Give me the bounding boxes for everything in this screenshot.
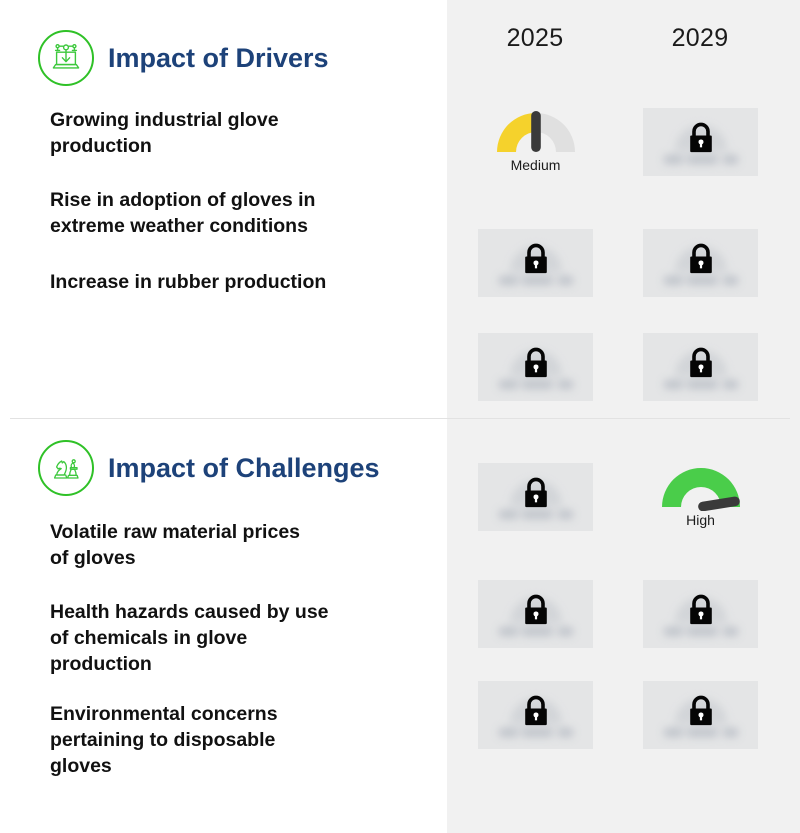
gauge-label-high: High — [658, 512, 744, 528]
driver-label-1: Growing industrial glove production — [50, 108, 435, 160]
lock-icon — [686, 593, 716, 632]
gauge-label-medium: Medium — [493, 157, 579, 173]
driver-label-3: Increase in rubber production — [50, 270, 435, 296]
column-header-2029: 2029 — [620, 24, 780, 53]
laptop-network-download-icon — [38, 30, 94, 86]
impact-cell-challenges-1-2029[interactable]: High — [643, 461, 758, 529]
impact-cell-challenges-1-2025[interactable] — [478, 463, 593, 531]
section-title-challenges: Impact of Challenges — [108, 453, 380, 484]
impact-cell-challenges-3-2029[interactable] — [643, 681, 758, 749]
lock-icon — [521, 694, 551, 733]
lock-icon — [686, 242, 716, 281]
lock-icon — [686, 121, 716, 160]
section-title-drivers: Impact of Drivers — [108, 43, 329, 74]
section-divider — [10, 418, 790, 419]
section-header-drivers: Impact of Drivers — [38, 30, 329, 86]
impact-cell-drivers-2-2025[interactable] — [478, 229, 593, 297]
section-header-challenges: Impact of Challenges — [38, 440, 380, 496]
impact-cell-drivers-1-2029[interactable] — [643, 108, 758, 176]
lock-icon — [686, 346, 716, 385]
infographic-root: 2025 2029 Impact of Drivers — [0, 0, 800, 833]
impact-cell-drivers-3-2025[interactable] — [478, 333, 593, 401]
challenge-label-2: Health hazards caused by use of chemical… — [50, 600, 435, 678]
challenge-label-1: Volatile raw material prices of gloves — [50, 520, 435, 572]
lock-icon — [521, 593, 551, 632]
impact-cell-drivers-3-2029[interactable] — [643, 333, 758, 401]
driver-label-2: Rise in adoption of gloves in extreme we… — [50, 188, 435, 240]
gauge-medium: Medium — [493, 108, 579, 173]
impact-cell-drivers-2-2029[interactable] — [643, 229, 758, 297]
column-header-2025: 2025 — [455, 24, 615, 53]
lock-icon — [521, 476, 551, 515]
lock-icon — [686, 694, 716, 733]
challenge-label-3: Environmental concerns pertaining to dis… — [50, 702, 435, 780]
impact-cell-challenges-3-2025[interactable] — [478, 681, 593, 749]
lock-icon — [521, 242, 551, 281]
impact-cell-challenges-2-2029[interactable] — [643, 580, 758, 648]
impact-cell-drivers-1-2025[interactable]: Medium — [478, 106, 593, 174]
chess-pieces-icon — [38, 440, 94, 496]
gauge-high: High — [658, 463, 744, 528]
impact-cell-challenges-2-2025[interactable] — [478, 580, 593, 648]
lock-icon — [521, 346, 551, 385]
